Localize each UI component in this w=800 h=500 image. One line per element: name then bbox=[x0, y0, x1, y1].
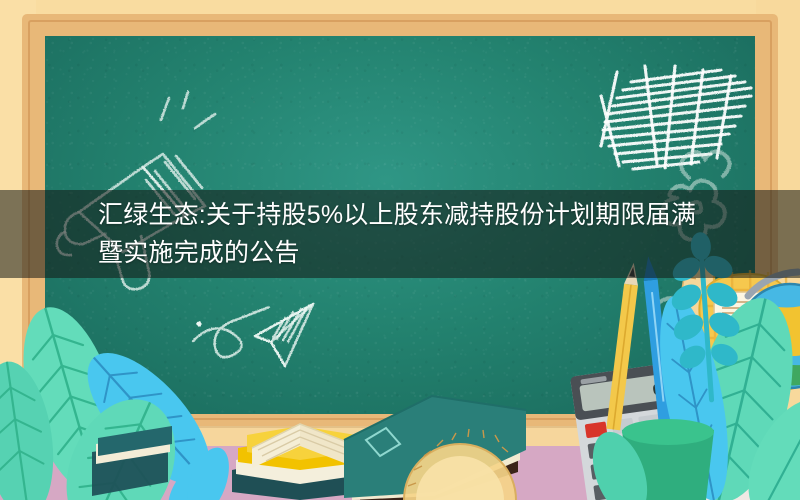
banner-canvas: 64 bbox=[0, 0, 800, 500]
page-title: 汇绿生态:关于持股5%以上股东减持股份计划期限届满暨实施完成的公告 bbox=[98, 196, 708, 272]
